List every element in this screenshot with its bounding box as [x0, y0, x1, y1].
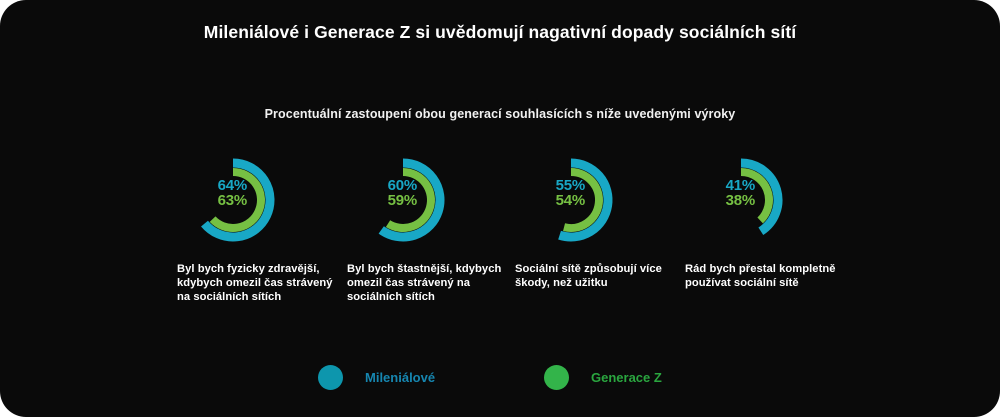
- donut-chart: 41% 38%: [689, 150, 799, 250]
- legend-dot-icon: [544, 365, 569, 390]
- page-title: Mileniálové i Generace Z si uvědomují na…: [0, 22, 1000, 43]
- arc-genz: [213, 172, 261, 228]
- stat-block: 60% 59% Byl bych štastnější, kdybych ome…: [335, 150, 507, 330]
- legend-item-genz[interactable]: Generace Z: [544, 358, 662, 396]
- donut-svg: [689, 150, 799, 250]
- legend-item-millennials[interactable]: Mileniálové: [318, 358, 435, 396]
- donut-chart: 60% 59%: [351, 150, 461, 250]
- legend-label: Mileniálové: [365, 370, 435, 385]
- arc-genz: [564, 172, 599, 228]
- stat-caption: Sociální sítě způsobují více škody, než …: [515, 262, 673, 290]
- stat-caption: Rád bych přestal kompletně používat soci…: [685, 262, 843, 290]
- stat-block: 64% 63% Byl bych fyzicky zdravější, kdyb…: [165, 150, 337, 330]
- legend-label: Generace Z: [591, 370, 662, 385]
- donut-svg: [181, 150, 291, 250]
- donut-svg: [351, 150, 461, 250]
- page-subtitle: Procentuální zastoupení obou generací so…: [0, 107, 1000, 121]
- arc-genz: [741, 172, 769, 220]
- stat-caption: Byl bych štastnější, kdybych omezil čas …: [347, 262, 505, 305]
- donut-chart-group: 64% 63% Byl bych fyzicky zdravější, kdyb…: [165, 150, 855, 330]
- arc-genz: [388, 172, 431, 228]
- stat-block: 55% 54% Sociální sítě způsobují více ško…: [503, 150, 675, 330]
- legend-dot-icon: [318, 365, 343, 390]
- donut-chart: 55% 54%: [519, 150, 629, 250]
- infographic-card: Mileniálové i Generace Z si uvědomují na…: [0, 0, 1000, 417]
- donut-chart: 64% 63%: [181, 150, 291, 250]
- donut-svg: [519, 150, 629, 250]
- stat-block: 41% 38% Rád bych přestal kompletně použí…: [673, 150, 845, 330]
- stat-caption: Byl bych fyzicky zdravější, kdybych omez…: [177, 262, 335, 305]
- legend: Mileniálové Generace Z: [0, 358, 1000, 396]
